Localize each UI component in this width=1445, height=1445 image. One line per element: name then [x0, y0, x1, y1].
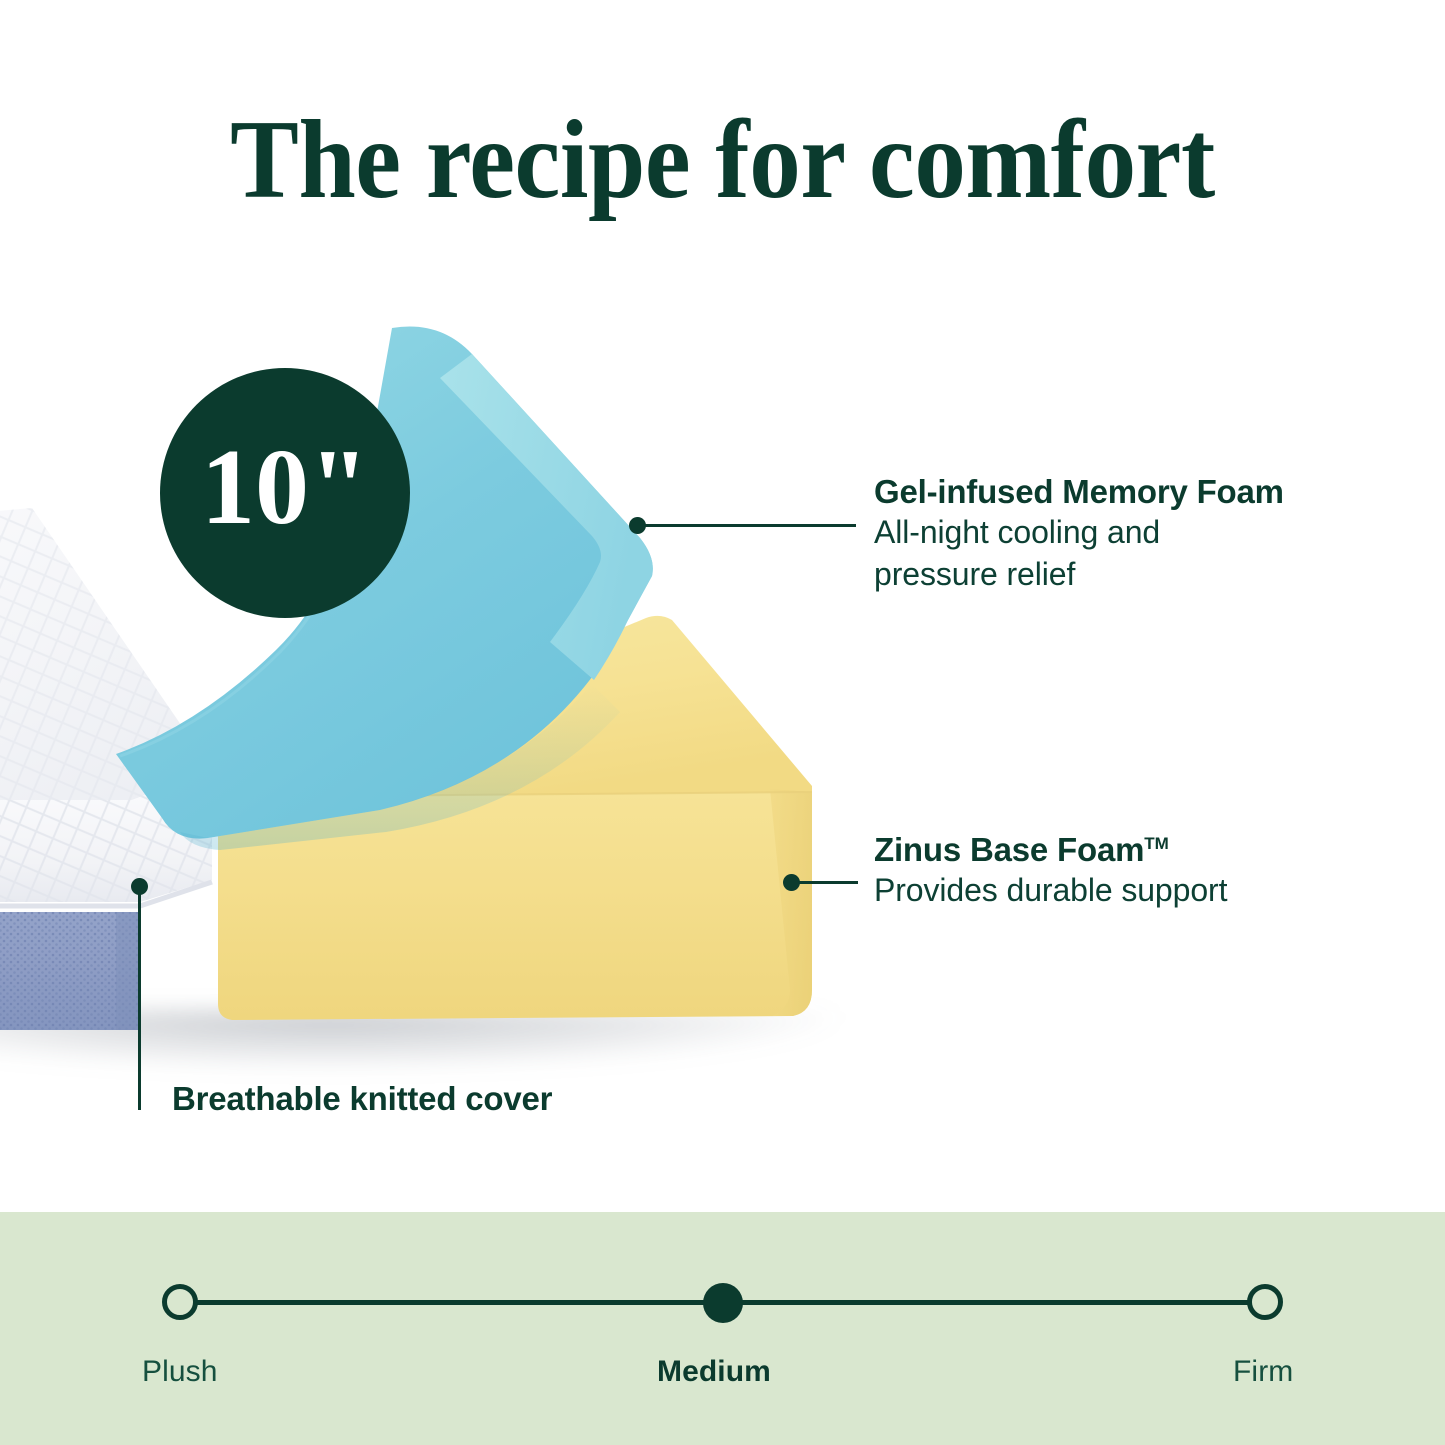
firmness-stop-firm[interactable] — [1247, 1284, 1283, 1320]
trademark-mark: TM — [1144, 834, 1169, 853]
gel-foam-callout-line — [643, 524, 856, 527]
firmness-stop-medium[interactable] — [703, 1283, 743, 1323]
base-foam-callout-title: Zinus Base FoamTM — [874, 830, 1227, 870]
firmness-band — [0, 1212, 1445, 1445]
mattress-illustration — [0, 300, 900, 1100]
base-foam-callout-body-line-1: Provides durable support — [874, 870, 1227, 912]
cover-callout-line — [138, 892, 141, 1110]
mattress-height-badge: 10" — [160, 368, 410, 618]
gel-foam-callout: Gel-infused Memory Foam All-night coolin… — [874, 472, 1284, 595]
gel-memory-foam-layer — [80, 320, 760, 860]
product-infographic: The recipe for comfort — [0, 0, 1445, 1445]
firmness-label-plush: Plush — [142, 1355, 218, 1389]
page-title: The recipe for comfort — [58, 104, 1387, 216]
cover-callout-title: Breathable knitted cover — [172, 1080, 552, 1118]
firmness-stop-plush[interactable] — [162, 1284, 198, 1320]
base-foam-callout: Zinus Base FoamTM Provides durable suppo… — [874, 830, 1227, 912]
gel-foam-callout-body-line-2: pressure relief — [874, 554, 1284, 596]
gel-foam-callout-body-line-1: All-night cooling and — [874, 512, 1284, 554]
base-foam-callout-line — [797, 881, 858, 884]
badge-label: 10" — [201, 434, 369, 552]
firmness-label-medium: Medium — [657, 1355, 771, 1389]
firmness-label-firm: Firm — [1233, 1355, 1293, 1389]
gel-foam-callout-title: Gel-infused Memory Foam — [874, 472, 1284, 512]
